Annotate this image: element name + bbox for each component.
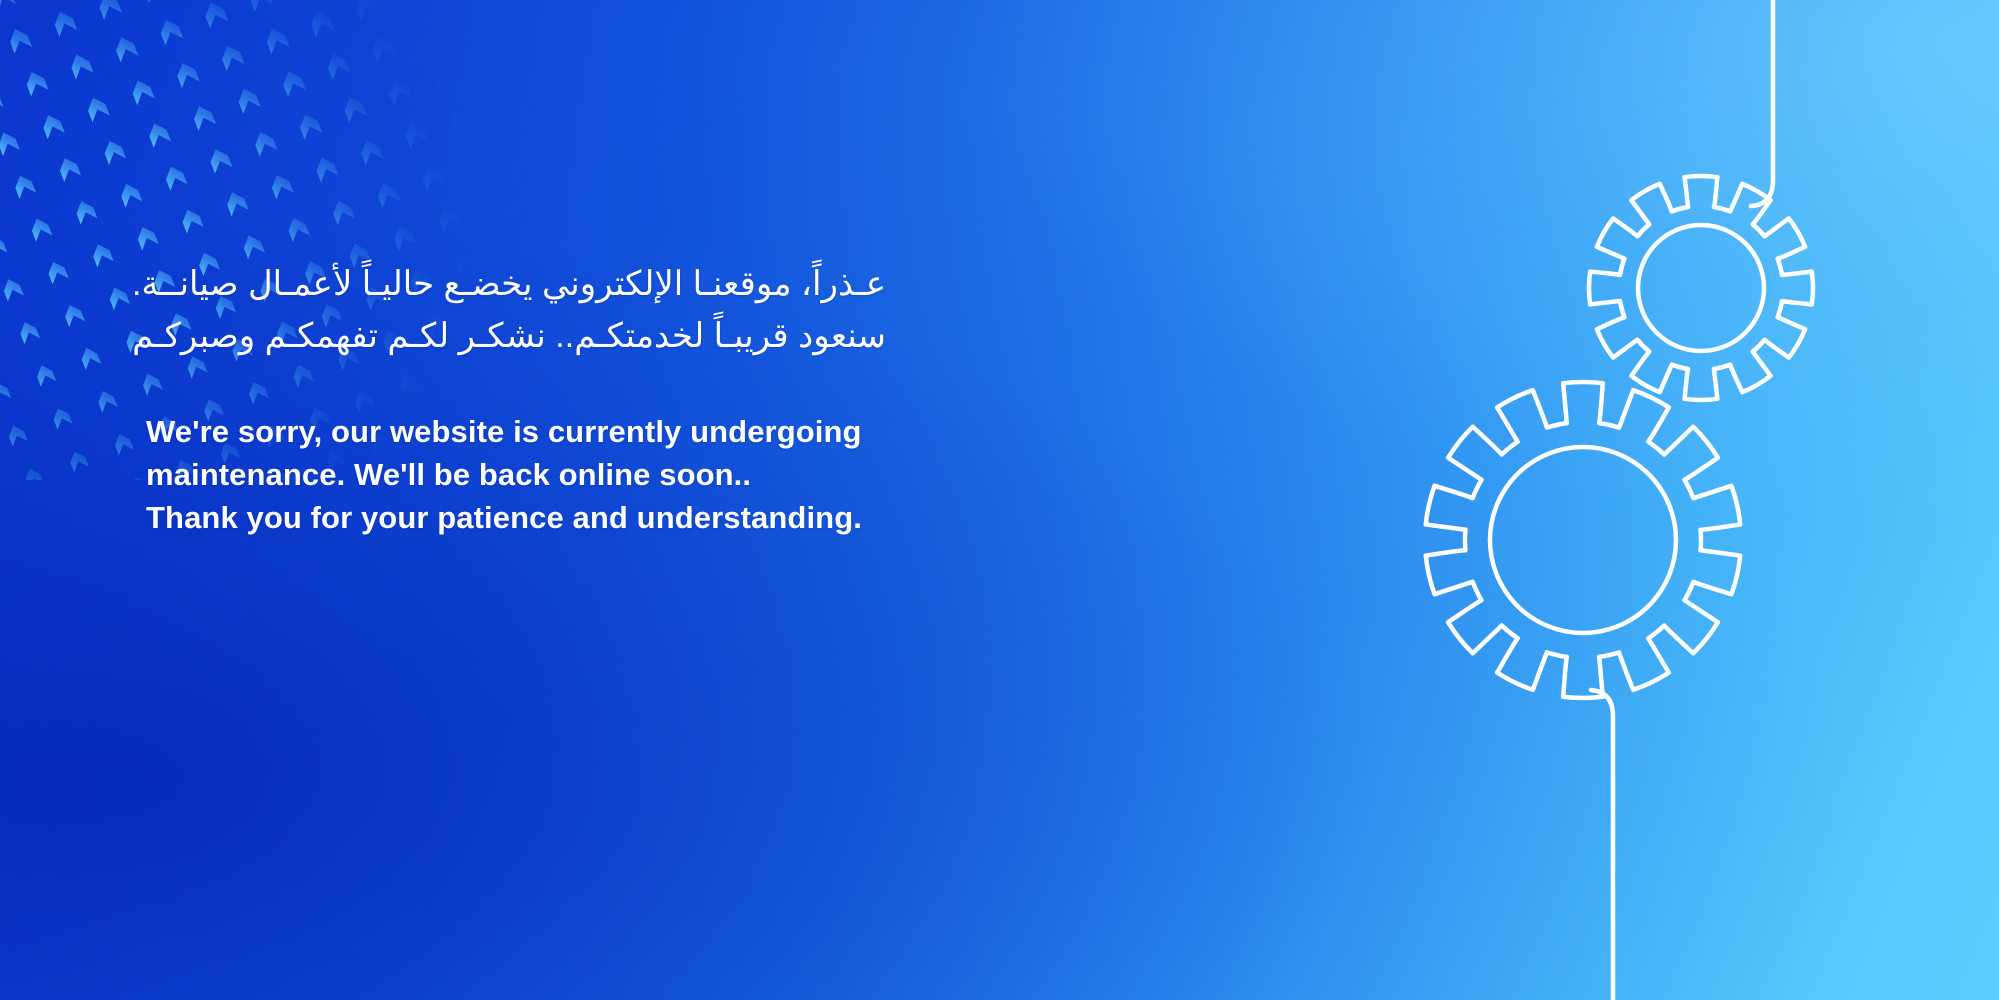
- maintenance-page: عـذراً، موقعنـا الإلكتروني يخضـع حاليـاً…: [0, 0, 1999, 1000]
- english-line-2: maintenance. We'll be back online soon..: [146, 453, 1156, 496]
- english-line-3: Thank you for your patience and understa…: [146, 496, 1156, 539]
- english-message: We're sorry, our website is currently un…: [146, 410, 1156, 539]
- top-connector-line: [1751, 0, 1773, 206]
- large-gear: [1426, 382, 1740, 698]
- message-block: عـذراً، موقعنـا الإلكتروني يخضـع حاليـاً…: [146, 258, 1156, 539]
- arabic-line-2: سنعود قريبـاً لخدمتكـم.. نشكـر لكـم تفهم…: [146, 310, 886, 362]
- small-gear: [1589, 176, 1813, 400]
- gear-illustration: [1199, 0, 1999, 1000]
- arabic-message: عـذراً، موقعنـا الإلكتروني يخضـع حاليـاً…: [146, 258, 886, 362]
- english-line-1: We're sorry, our website is currently un…: [146, 410, 1156, 453]
- arabic-line-1: عـذراً، موقعنـا الإلكتروني يخضـع حاليـاً…: [146, 258, 886, 310]
- bottom-connector-line: [1591, 690, 1613, 1000]
